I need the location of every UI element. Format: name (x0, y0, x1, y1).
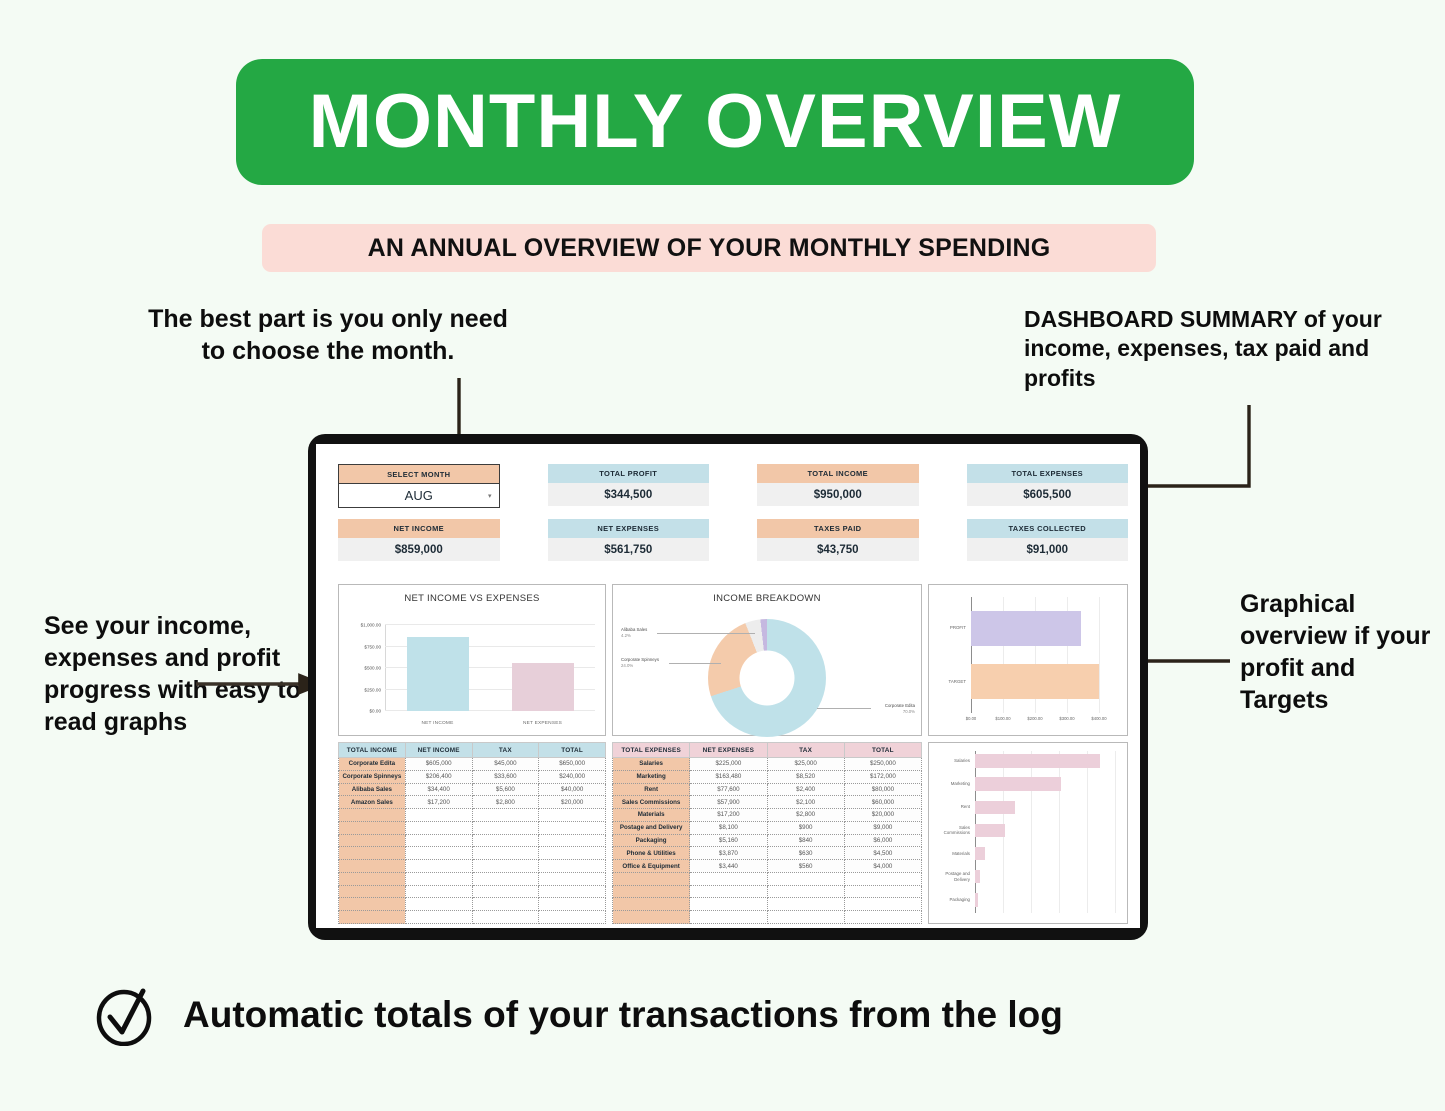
kpi-label: TOTAL INCOME (757, 464, 919, 483)
empty-cell (405, 860, 472, 873)
row-value: $172,000 (844, 770, 921, 783)
row-label: Alibaba Sales (339, 783, 406, 796)
bar (975, 801, 1015, 814)
row-label: Corporate Edita (339, 758, 406, 771)
row-value: $630 (767, 847, 844, 860)
table-row: Materials$17,200$2,800$20,000 (613, 809, 922, 822)
empty-cell (472, 821, 539, 834)
row-label: Marketing (613, 770, 690, 783)
bar-group: Sales Commissions (975, 824, 1115, 837)
check-circle-icon (93, 984, 155, 1046)
table-header-row: TOTAL INCOMENET INCOMETAXTOTAL (339, 743, 606, 758)
bar-group: PROFIT (971, 611, 1115, 646)
row-value: $77,600 (690, 783, 767, 796)
row-value: $34,400 (405, 783, 472, 796)
bar (512, 663, 574, 711)
empty-cell (539, 860, 606, 873)
kpi-taxes-paid: TAXES PAID $43,750 (757, 519, 919, 561)
row-value: $2,400 (767, 783, 844, 796)
row-label: Postage and Delivery (613, 821, 690, 834)
row-value: $20,000 (539, 796, 606, 809)
empty-cell (472, 847, 539, 860)
row-value: $4,000 (844, 860, 921, 873)
row-label: Corporate Spinneys (339, 770, 406, 783)
empty-cell (613, 885, 690, 898)
bar-group: TARGET (971, 664, 1115, 699)
empty-cell (767, 911, 844, 924)
bar-group: NET EXPENSES (490, 625, 595, 711)
column-header: TOTAL (844, 743, 921, 758)
y-axis-label: Postage and Delivery (930, 871, 970, 882)
x-axis-tick: $100.00 (995, 716, 1010, 721)
empty-cell (472, 911, 539, 924)
kpi-total-profit: TOTAL PROFIT $344,500 (548, 464, 710, 508)
row-value: $6,000 (844, 834, 921, 847)
table-row: Amazon Sales$17,200$2,800$20,000 (339, 796, 606, 809)
x-axis-tick: $0.00 (966, 716, 976, 721)
footer-text: Automatic totals of your transactions fr… (183, 994, 1063, 1036)
row-value: $2,800 (767, 809, 844, 822)
row-label: Phone & Utilities (613, 847, 690, 860)
y-axis-label: Rent (930, 804, 970, 810)
table-row: Packaging$5,160$840$6,000 (613, 834, 922, 847)
empty-cell (539, 834, 606, 847)
y-axis-label: TARGET (926, 679, 966, 685)
empty-cell (767, 898, 844, 911)
bar (971, 664, 1099, 699)
y-axis-label: Salaries (930, 758, 970, 764)
row-value: $225,000 (690, 758, 767, 771)
column-header: TAX (767, 743, 844, 758)
column-header: NET EXPENSES (690, 743, 767, 758)
empty-cell (539, 809, 606, 822)
chart-title: NET INCOME VS EXPENSES (339, 585, 605, 604)
row-value: $5,160 (690, 834, 767, 847)
row-label: Salaries (613, 758, 690, 771)
profit-vs-target-chart: $0.00$100.00$200.00$300.00$400.00 PROFIT… (928, 584, 1128, 736)
row-value: $8,520 (767, 770, 844, 783)
tables-row: TOTAL INCOMENET INCOMETAXTOTAL Corporate… (338, 742, 1128, 924)
table-row-empty (613, 885, 922, 898)
empty-cell (539, 821, 606, 834)
empty-cell (690, 872, 767, 885)
row-value: $3,870 (690, 847, 767, 860)
empty-cell (844, 898, 921, 911)
y-axis-tick: $250.00 (364, 687, 381, 692)
row-value: $2,800 (472, 796, 539, 809)
row-value: $4,500 (844, 847, 921, 860)
bar-group: NET INCOME (385, 625, 490, 711)
x-axis-tick: $300.00 (1059, 716, 1074, 721)
table-row-empty (339, 834, 606, 847)
bar (975, 847, 985, 860)
empty-cell (405, 847, 472, 860)
table-row: Alibaba Sales$34,400$5,600$40,000 (339, 783, 606, 796)
table-row: Office & Equipment$3,440$560$4,000 (613, 860, 922, 873)
y-axis-tick: $500.00 (364, 666, 381, 671)
empty-cell (844, 872, 921, 885)
table-row-empty (613, 911, 922, 924)
row-label: Packaging (613, 834, 690, 847)
row-value: $5,600 (472, 783, 539, 796)
empty-cell (690, 911, 767, 924)
table-row-empty (339, 898, 606, 911)
empty-cell (339, 872, 406, 885)
row-value: $163,480 (690, 770, 767, 783)
select-month-value: AUG (405, 488, 433, 503)
empty-cell (539, 885, 606, 898)
bar-group: Postage and Delivery (975, 870, 1115, 883)
empty-cell (339, 911, 406, 924)
table-row: Salaries$225,000$25,000$250,000 (613, 758, 922, 771)
bar-group: Materials (975, 847, 1115, 860)
kpi-total-expenses: TOTAL EXPENSES $605,500 (967, 464, 1129, 508)
empty-cell (472, 809, 539, 822)
page-title: MONTHLY OVERVIEW (309, 84, 1122, 160)
empty-cell (767, 885, 844, 898)
kpi-label: TOTAL EXPENSES (967, 464, 1129, 483)
column-header: TOTAL EXPENSES (613, 743, 690, 758)
net-income-vs-expenses-chart: NET INCOME VS EXPENSES $0.00$250.00$500.… (338, 584, 606, 736)
row-value: $20,000 (844, 809, 921, 822)
kpi-label: TOTAL PROFIT (548, 464, 710, 483)
page-banner: MONTHLY OVERVIEW (236, 59, 1194, 185)
empty-cell (472, 872, 539, 885)
expense-table: TOTAL EXPENSESNET EXPENSESTAXTOTAL Salar… (612, 742, 922, 924)
table-row-empty (339, 885, 606, 898)
row-value: $33,600 (472, 770, 539, 783)
empty-cell (339, 847, 406, 860)
empty-cell (613, 898, 690, 911)
row-label: Amazon Sales (339, 796, 406, 809)
empty-cell (405, 821, 472, 834)
table-header-row: TOTAL EXPENSESNET EXPENSESTAXTOTAL (613, 743, 922, 758)
empty-cell (472, 898, 539, 911)
select-month-dropdown[interactable]: AUG ▾ (338, 483, 500, 508)
empty-cell (844, 885, 921, 898)
kpi-value: $561,750 (548, 538, 710, 561)
kpi-value: $605,500 (967, 483, 1129, 506)
kpi-total-income: TOTAL INCOME $950,000 (757, 464, 919, 508)
table-row-empty (339, 821, 606, 834)
income-table: TOTAL INCOMENET INCOMETAXTOTAL Corporate… (338, 742, 606, 924)
row-value: $45,000 (472, 758, 539, 771)
table-row: Sales Commissions$57,900$2,100$60,000 (613, 796, 922, 809)
bar (407, 637, 469, 711)
table-row: Corporate Edita$605,000$45,000$650,000 (339, 758, 606, 771)
row-value: $60,000 (844, 796, 921, 809)
bar (975, 754, 1100, 767)
table-row-empty (339, 860, 606, 873)
y-axis-tick: $750.00 (364, 644, 381, 649)
laptop-frame: SELECT MONTH AUG ▾ TOTAL PROFIT $344,500… (308, 434, 1148, 940)
table-row-empty (339, 809, 606, 822)
table-row-empty (339, 872, 606, 885)
bar (975, 824, 1005, 837)
y-axis-label: PROFIT (926, 625, 966, 631)
row-value: $605,000 (405, 758, 472, 771)
x-axis-tick: $200.00 (1027, 716, 1042, 721)
empty-cell (339, 834, 406, 847)
kpi-net-expenses: NET EXPENSES $561,750 (548, 519, 710, 561)
kpi-value: $91,000 (967, 538, 1129, 561)
row-value: $3,440 (690, 860, 767, 873)
empty-cell (405, 809, 472, 822)
y-axis-label: Marketing (930, 781, 970, 787)
row-value: $250,000 (844, 758, 921, 771)
empty-cell (339, 885, 406, 898)
empty-cell (405, 885, 472, 898)
row-value: $80,000 (844, 783, 921, 796)
kpi-value: $950,000 (757, 483, 919, 506)
bar (975, 777, 1061, 790)
row-value: $206,400 (405, 770, 472, 783)
empty-cell (844, 911, 921, 924)
chart-row: NET INCOME VS EXPENSES $0.00$250.00$500.… (338, 584, 1128, 736)
bar-group: Packaging (975, 893, 1115, 906)
empty-cell (472, 834, 539, 847)
row-label: Sales Commissions (613, 796, 690, 809)
donut-label-spinneys: Corporate Spinneys 24.0% (621, 657, 659, 669)
empty-cell (767, 872, 844, 885)
bar (975, 893, 978, 906)
table-row-empty (613, 898, 922, 911)
kpi-label: TAXES COLLECTED (967, 519, 1129, 538)
row-value: $240,000 (539, 770, 606, 783)
empty-cell (539, 911, 606, 924)
dashboard-screen: SELECT MONTH AUG ▾ TOTAL PROFIT $344,500… (316, 444, 1140, 928)
row-label: Materials (613, 809, 690, 822)
page-subtitle-banner: AN ANNUAL OVERVIEW OF YOUR MONTHLY SPEND… (262, 224, 1156, 272)
empty-cell (539, 898, 606, 911)
callout-profit-targets: Graphical overview if your profit and Ta… (1240, 588, 1440, 716)
row-value: $650,000 (539, 758, 606, 771)
empty-cell (472, 860, 539, 873)
y-axis-label: Materials (930, 851, 970, 857)
table-row: Rent$77,600$2,400$80,000 (613, 783, 922, 796)
row-value: $9,000 (844, 821, 921, 834)
y-axis-tick: $1,000.00 (361, 623, 381, 628)
column-header: TOTAL INCOME (339, 743, 406, 758)
bar-group: Salaries (975, 754, 1115, 767)
row-value: $2,100 (767, 796, 844, 809)
row-label: Office & Equipment (613, 860, 690, 873)
bar (975, 870, 980, 883)
callout-dashboard-summary: DASHBOARD SUMMARY of your income, expens… (1024, 305, 1444, 393)
row-value: $57,900 (690, 796, 767, 809)
empty-cell (405, 911, 472, 924)
kpi-value: $859,000 (338, 538, 500, 561)
row-value: $8,100 (690, 821, 767, 834)
y-axis-tick: $0.00 (370, 709, 382, 714)
empty-cell (690, 885, 767, 898)
callout-select-month: The best part is you only need to choose… (148, 303, 508, 367)
empty-cell (405, 872, 472, 885)
kpi-net-income: NET INCOME $859,000 (338, 519, 500, 561)
table-row-empty (339, 847, 606, 860)
donut-label-edita: Corporate Edita 70.0% (885, 703, 915, 715)
empty-cell (339, 898, 406, 911)
chevron-down-icon: ▾ (488, 492, 492, 500)
empty-cell (339, 821, 406, 834)
expense-breakdown-chart: SalariesMarketingRentSales CommissionsMa… (928, 742, 1128, 924)
empty-cell (539, 872, 606, 885)
empty-cell (539, 847, 606, 860)
row-label: Rent (613, 783, 690, 796)
row-value: $560 (767, 860, 844, 873)
row-value: $840 (767, 834, 844, 847)
x-axis-label: NET EXPENSES (523, 721, 562, 726)
chart-title: INCOME BREAKDOWN (613, 585, 921, 604)
table-row: Postage and Delivery$8,100$900$9,000 (613, 821, 922, 834)
kpi-grid: SELECT MONTH AUG ▾ TOTAL PROFIT $344,500… (338, 464, 1128, 561)
row-value: $17,200 (405, 796, 472, 809)
page-subtitle: AN ANNUAL OVERVIEW OF YOUR MONTHLY SPEND… (368, 234, 1051, 263)
select-month-label: SELECT MONTH (338, 464, 500, 483)
row-value: $900 (767, 821, 844, 834)
x-axis-label: NET INCOME (421, 721, 453, 726)
empty-cell (613, 911, 690, 924)
row-value: $40,000 (539, 783, 606, 796)
donut-ring (708, 619, 826, 737)
footer-line: Automatic totals of your transactions fr… (93, 984, 1063, 1046)
column-header: NET INCOME (405, 743, 472, 758)
table-row-empty (613, 872, 922, 885)
row-value: $17,200 (690, 809, 767, 822)
kpi-label: TAXES PAID (757, 519, 919, 538)
kpi-value: $43,750 (757, 538, 919, 561)
empty-cell (690, 898, 767, 911)
empty-cell (405, 898, 472, 911)
row-value: $25,000 (767, 758, 844, 771)
select-month-card[interactable]: SELECT MONTH AUG ▾ (338, 464, 500, 508)
table-row-empty (339, 911, 606, 924)
empty-cell (405, 834, 472, 847)
column-header: TAX (472, 743, 539, 758)
table-row: Marketing$163,480$8,520$172,000 (613, 770, 922, 783)
kpi-label: NET EXPENSES (548, 519, 710, 538)
y-axis-label: Packaging (930, 897, 970, 903)
bar-group: Marketing (975, 777, 1115, 790)
donut-label-alibaba: Alibaba Sales 4.2% (621, 627, 647, 639)
kpi-taxes-collected: TAXES COLLECTED $91,000 (967, 519, 1129, 561)
empty-cell (472, 885, 539, 898)
column-header: TOTAL (539, 743, 606, 758)
callout-graphs: See your income, expenses and profit pro… (44, 610, 314, 738)
bar (971, 611, 1081, 646)
empty-cell (339, 860, 406, 873)
income-breakdown-chart: INCOME BREAKDOWN Alibaba Sales 4.2% Corp… (612, 584, 922, 736)
empty-cell (339, 809, 406, 822)
kpi-value: $344,500 (548, 483, 710, 506)
empty-cell (613, 872, 690, 885)
y-axis-label: Sales Commissions (930, 825, 970, 836)
x-axis-tick: $400.00 (1091, 716, 1106, 721)
table-row: Corporate Spinneys$206,400$33,600$240,00… (339, 770, 606, 783)
table-row: Phone & Utilities$3,870$630$4,500 (613, 847, 922, 860)
bar-group: Rent (975, 801, 1115, 814)
kpi-label: NET INCOME (338, 519, 500, 538)
